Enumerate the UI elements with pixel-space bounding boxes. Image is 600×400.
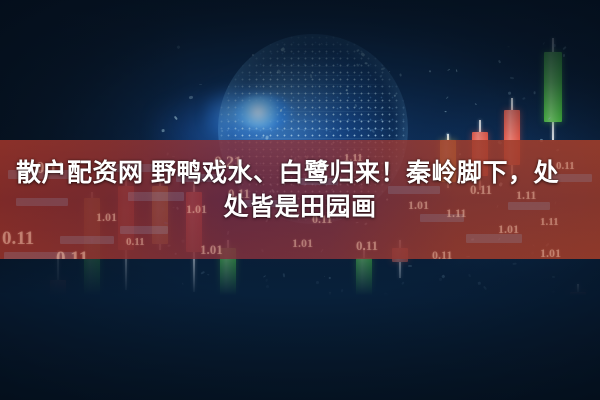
headline-line-2: 处皆是田园画 xyxy=(0,192,600,222)
banner-image: 0.110.110.111.011.011.010.210.110.111.11… xyxy=(0,0,600,400)
headline-line-1: 散户配资网 野鸭戏水、白鹭归来！秦岭脚下，处 xyxy=(16,158,600,188)
headline-block: 散户配资网 野鸭戏水、白鹭归来！秦岭脚下，处 处皆是田园画 xyxy=(0,140,600,259)
